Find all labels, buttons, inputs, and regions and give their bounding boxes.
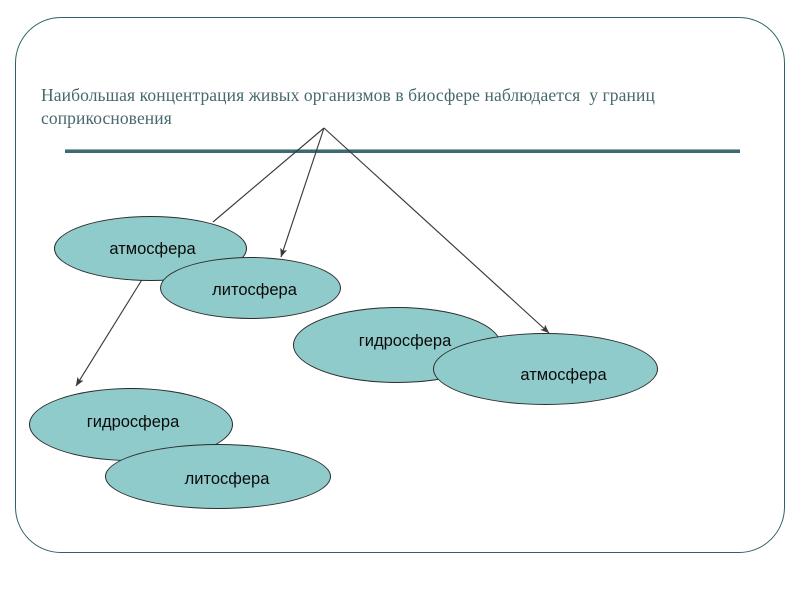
connector-apex-to-atmosphere-top bbox=[213, 128, 324, 222]
node-label: атмосфера bbox=[109, 240, 195, 259]
slide-canvas: Наибольшая концентрация живых организмов… bbox=[0, 0, 800, 600]
connector-atmosphere-to-hydrosphere-bottom bbox=[76, 278, 143, 386]
connector-apex-to-atmosphere-right bbox=[324, 128, 549, 333]
node-label: гидросфера bbox=[359, 332, 452, 351]
node-label: атмосфера bbox=[520, 366, 606, 385]
connector-apex-to-litosphere-top bbox=[281, 128, 324, 257]
node-litosphere-top[interactable]: литосфера bbox=[160, 257, 341, 319]
node-label: гидросфера bbox=[87, 413, 180, 432]
node-atmosphere-right[interactable]: атмосфера bbox=[433, 333, 658, 405]
connector-layer bbox=[0, 0, 800, 600]
node-litosphere-bottom[interactable]: литосфера bbox=[105, 444, 331, 509]
node-label: литосфера bbox=[185, 470, 270, 489]
node-label: литосфера bbox=[212, 281, 297, 300]
